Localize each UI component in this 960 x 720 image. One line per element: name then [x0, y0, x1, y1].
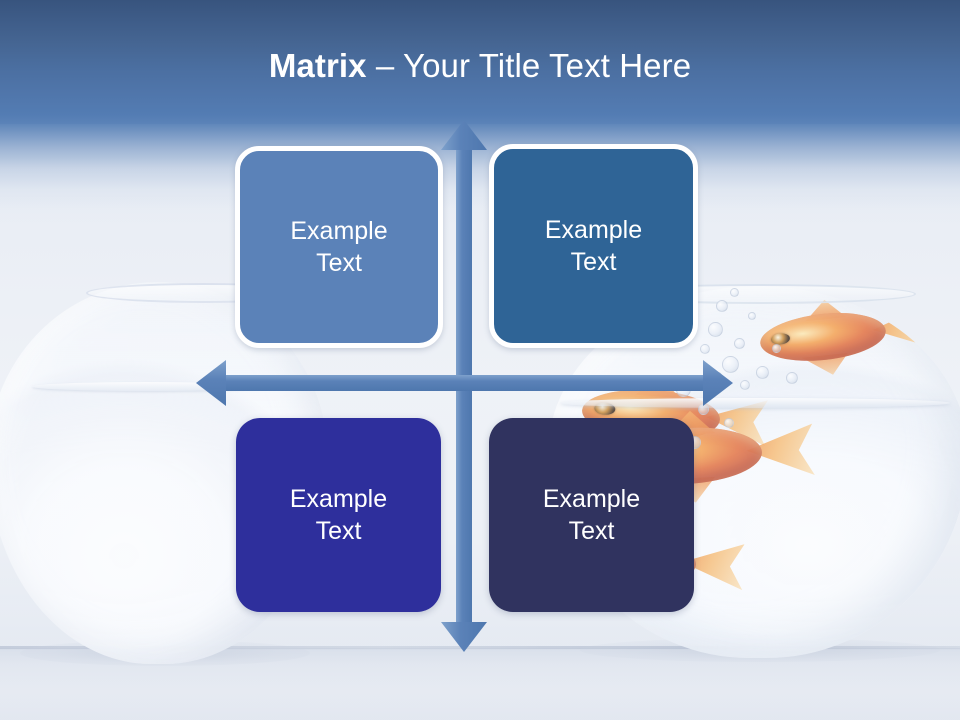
title-band-fade	[0, 124, 960, 210]
quadrant-bottom-right-label: ExampleText	[529, 483, 654, 547]
horizontal-axis-shaft	[212, 375, 717, 391]
quadrant-bottom-left[interactable]: ExampleText	[236, 418, 441, 612]
slide-canvas: Matrix – Your Title Text Here ExampleTex…	[0, 0, 960, 720]
quadrant-top-left[interactable]: ExampleText	[235, 146, 443, 348]
quadrant-bottom-right[interactable]: ExampleText	[489, 418, 694, 612]
quadrant-bottom-left-label: ExampleText	[276, 483, 401, 547]
quadrant-top-left-label: ExampleText	[276, 215, 401, 279]
quadrant-top-right-label: ExampleText	[531, 214, 656, 278]
page-title-strong: Matrix	[269, 47, 367, 84]
quadrant-top-right[interactable]: ExampleText	[489, 144, 698, 348]
page-title: Matrix – Your Title Text Here	[0, 46, 960, 86]
page-title-rest: – Your Title Text Here	[367, 47, 692, 84]
